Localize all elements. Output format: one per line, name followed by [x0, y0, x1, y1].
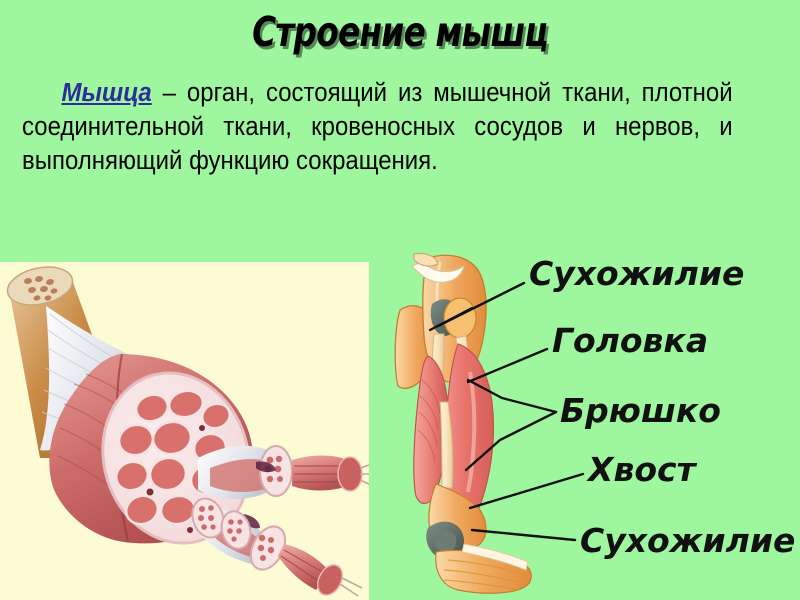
callout-label-tendon-bottom: Сухожилие — [580, 523, 795, 559]
callout-label-belly: Брюшко — [560, 393, 721, 429]
fascicle-upper-shape — [198, 446, 369, 499]
callout-label-head: Головка — [552, 323, 708, 359]
callout-label-tail: Хвост — [588, 452, 696, 488]
definition-paragraph: Мышца – орган, состоящий из мышечной тка… — [22, 76, 733, 178]
arm-muscle-anatomy-illustration — [392, 252, 552, 600]
muscle-fiber-structure-figure — [0, 262, 369, 600]
definition-term: Мышца — [61, 79, 151, 107]
callout-label-tendon-top: Сухожилие — [529, 256, 744, 292]
slide-canvas: Строение мышц Мышца – орган, состоящий и… — [0, 0, 800, 600]
arm-muscle-anatomy-figure — [392, 252, 552, 600]
muscle-fiber-structure-illustration — [0, 262, 369, 600]
humerus-head-shape — [444, 298, 476, 338]
page-title: Строение мышц — [80, 8, 720, 56]
